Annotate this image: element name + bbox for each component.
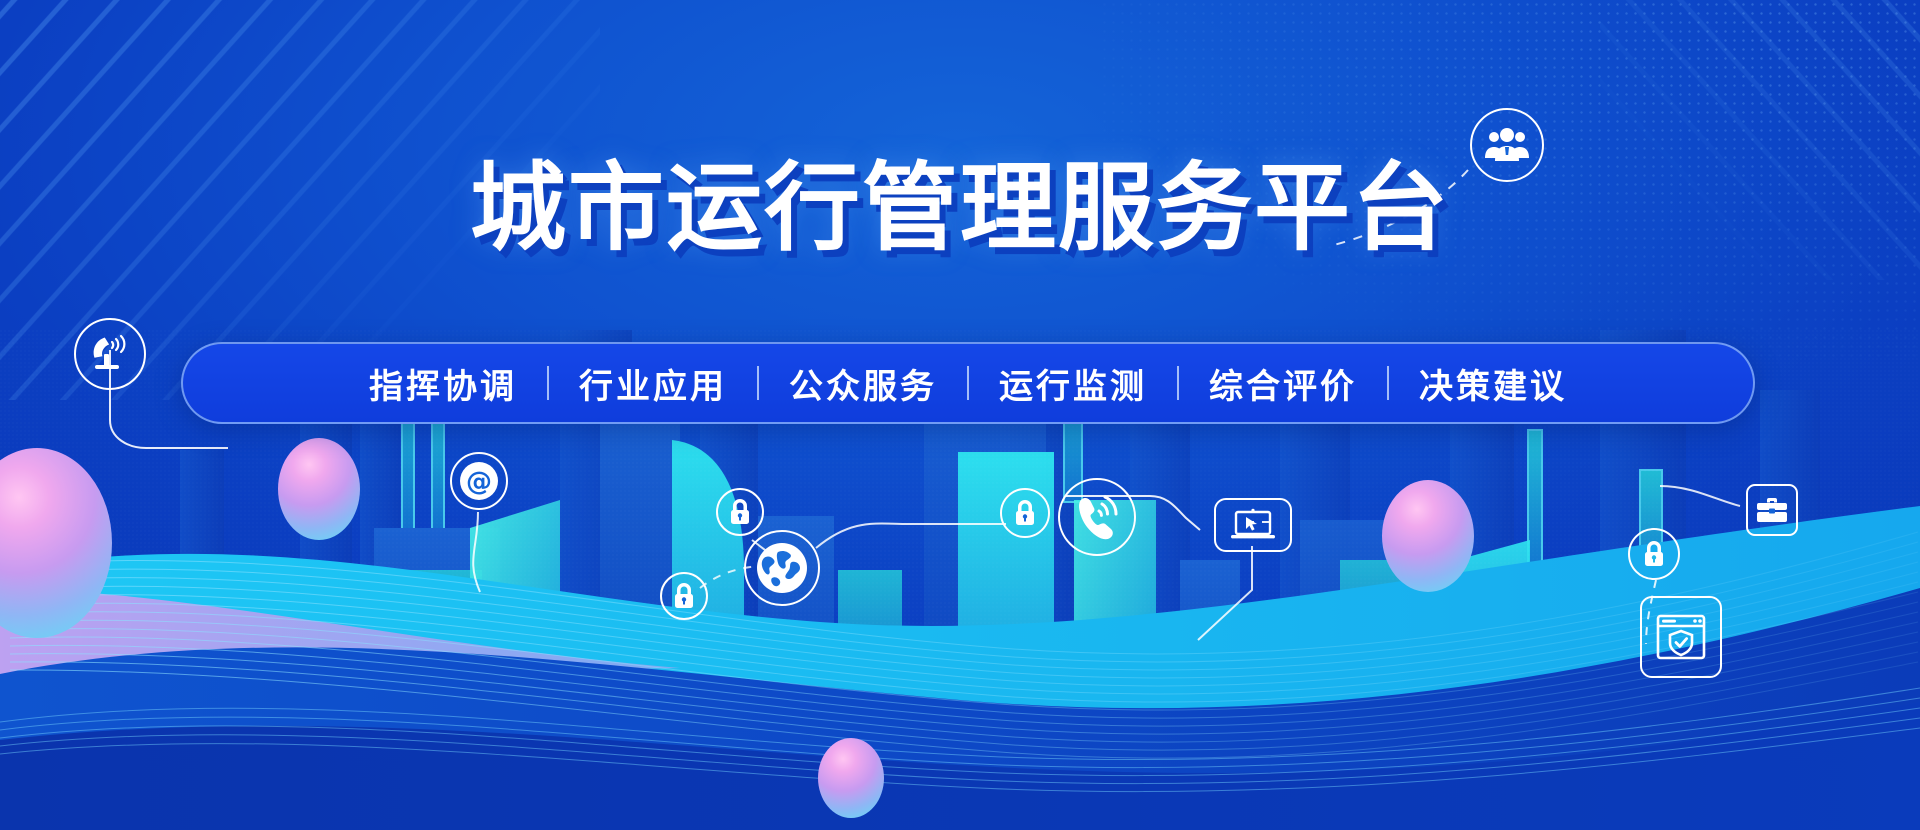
at-sign-icon[interactable]: @: [450, 452, 508, 510]
nav-item-public-service[interactable]: 公众服务: [759, 359, 967, 408]
nav-item-comprehensive-evaluation[interactable]: 综合评价: [1179, 359, 1387, 408]
gradient-sphere-right: [1382, 480, 1474, 592]
phone-ring-icon[interactable]: [1058, 478, 1136, 556]
lock-icon-upper[interactable]: [716, 488, 764, 536]
gradient-sphere-bottom: [818, 738, 884, 818]
gradient-sphere-mid-left: [278, 438, 360, 540]
globe-icon[interactable]: [744, 530, 820, 606]
lock-icon-far-right[interactable]: [1628, 528, 1680, 580]
nav-item-operation-monitoring[interactable]: 运行监测: [969, 359, 1177, 408]
nav-item-decision-suggestion[interactable]: 决策建议: [1389, 359, 1597, 408]
laptop-cursor-icon[interactable]: [1214, 498, 1292, 552]
lock-icon-right[interactable]: [1000, 488, 1050, 538]
nav-item-industry-application[interactable]: 行业应用: [549, 359, 757, 408]
page-title: 城市运行管理服务平台: [0, 158, 1920, 259]
city-platform-banner: @: [0, 0, 1920, 830]
primary-navigation[interactable]: 指挥协调 行业应用 公众服务 运行监测 综合评价 决策建议: [181, 342, 1755, 424]
satellite-dish-icon[interactable]: [74, 318, 146, 390]
browser-shield-icon[interactable]: [1640, 596, 1722, 678]
nav-item-command-coordination[interactable]: 指挥协调: [339, 359, 547, 408]
lock-icon-lower-left[interactable]: [660, 572, 708, 620]
svg-text:@: @: [466, 467, 492, 497]
briefcase-icon[interactable]: [1746, 484, 1798, 536]
